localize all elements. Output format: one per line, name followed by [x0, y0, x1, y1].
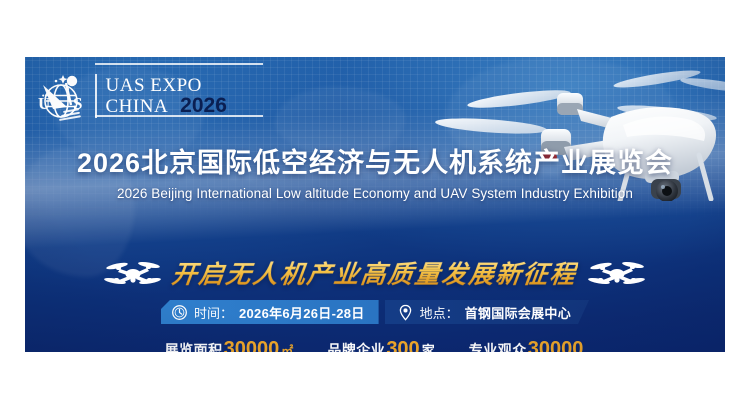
page-title-en: 2026 Beijing International Low altitude …	[25, 186, 725, 201]
stat-label: 展览面积	[165, 340, 223, 352]
logo-year: 2026	[180, 95, 227, 116]
stat-number: 300	[386, 338, 419, 352]
logo-line-2: CHINA	[106, 97, 169, 116]
headline-block: 2026北京国际低空经济与无人机系统产业展览会 2026 Beijing Int…	[25, 141, 725, 201]
event-date-badge: 时间： 2026年6月26日-28日	[161, 300, 379, 324]
screenshot-canvas: Ü S UAS EXPO CHINA 2026 2026北京国际低空经	[0, 0, 750, 410]
slogan-row: 开启无人机产业高质量发展新征程	[25, 255, 725, 291]
clock-icon	[171, 304, 188, 321]
stat-label: 品牌企业	[327, 340, 385, 352]
stat-unit: 家	[422, 340, 435, 352]
logo-bottom-rule	[95, 115, 263, 117]
event-banner: Ü S UAS EXPO CHINA 2026 2026北京国际低空经	[25, 57, 725, 352]
stat-unit: ㎡	[281, 342, 293, 352]
stat-number: 30000	[528, 338, 584, 352]
globe-satellite-dish-icon: Ü S	[33, 67, 93, 125]
stat-item: 专业观众 30000	[469, 338, 586, 352]
stat-label: 专业观众	[469, 340, 527, 352]
location-value: 首钢国际会展中心	[465, 303, 571, 322]
date-label: 时间：	[194, 303, 233, 322]
stat-item: 展览面积 30000 ㎡	[165, 338, 294, 352]
event-location-badge: 地点： 首钢国际会展中心	[385, 300, 589, 324]
event-stats-row: 展览面积 30000 ㎡ 品牌企业 300 家 专业观众 30000	[25, 338, 725, 352]
location-label: 地点：	[420, 303, 459, 322]
logo-wordmark: UAS EXPO CHINA 2026	[106, 76, 227, 117]
logo-divider	[95, 74, 97, 118]
svg-text:Ü: Ü	[38, 94, 50, 113]
drone-icon	[588, 258, 646, 288]
date-value: 2026年6月26日-28日	[239, 303, 365, 322]
drone-icon	[104, 258, 162, 288]
event-info-row: 时间： 2026年6月26日-28日 地点： 首钢国际会展中心	[25, 300, 725, 324]
logo-top-rule	[95, 63, 263, 65]
slogan-text: 开启无人机产业高质量发展新征程	[170, 255, 579, 291]
logo-line-1: UAS EXPO	[106, 76, 227, 95]
uas-expo-logo: Ü S UAS EXPO CHINA 2026	[33, 65, 227, 127]
stat-item: 品牌企业 300 家	[327, 338, 434, 352]
stat-number: 30000	[224, 338, 280, 352]
map-pin-icon	[397, 304, 414, 321]
page-title-cn: 2026北京国际低空经济与无人机系统产业展览会	[25, 141, 725, 180]
